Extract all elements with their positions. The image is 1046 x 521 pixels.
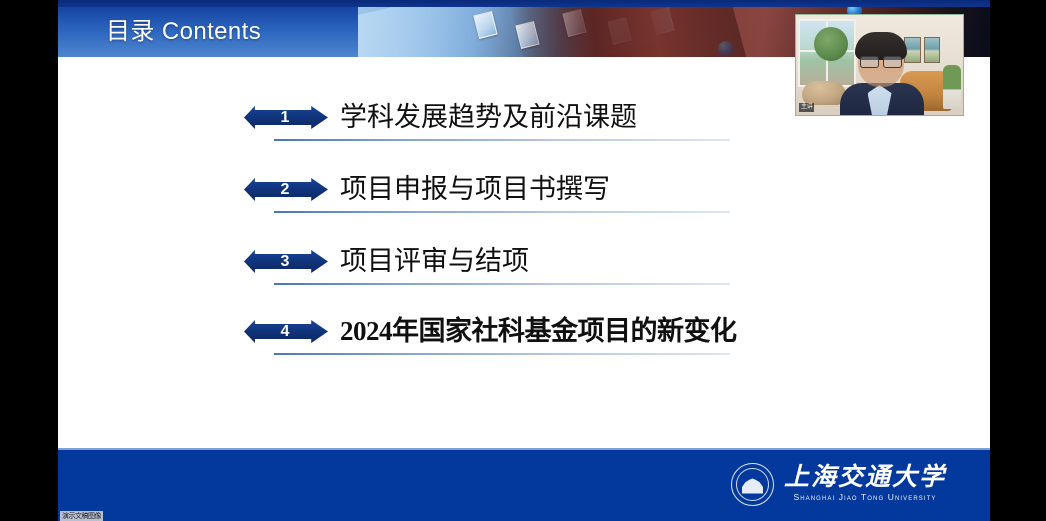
plant-icon (943, 65, 961, 109)
paper-chip-icon (650, 7, 674, 35)
sjtu-seal-icon (731, 463, 774, 506)
list-item[interactable]: 4 2024年国家社科基金项目的新变化 (244, 315, 744, 361)
paper-chip-icon (562, 9, 586, 37)
list-item-number: 4 (244, 319, 328, 344)
list-item[interactable]: 3 项目评审与结项 (244, 245, 744, 291)
list-item-underline (274, 353, 730, 355)
paper-chip-icon (607, 17, 631, 45)
list-item-number: 2 (244, 177, 328, 202)
webcam-overlay[interactable]: 主讲 (795, 14, 964, 116)
sjtu-logo: 上海交通大学 Shanghai Jiao Tong University (731, 462, 946, 506)
sjtu-logo-chinese: 上海交通大学 (784, 465, 946, 491)
slide-footer: 上海交通大学 Shanghai Jiao Tong University 演示文… (58, 448, 990, 521)
footer-watermark-tag: 演示文稿图像 (60, 511, 103, 521)
list-item[interactable]: 2 项目申报与项目书撰写 (244, 173, 744, 219)
list-item-number: 3 (244, 249, 328, 274)
list-item-underline (274, 139, 730, 141)
list-item-label: 项目申报与项目书撰写 (340, 169, 610, 209)
glasses-icon (859, 56, 903, 66)
paper-chip-icon (515, 21, 539, 49)
tree-icon (814, 27, 848, 61)
list-item-label: 项目评审与结项 (340, 241, 529, 281)
wall-art-icon (904, 37, 940, 63)
list-item-label: 2024年国家社科基金项目的新变化 (340, 311, 737, 351)
participant-name-label: 主讲 (799, 103, 814, 112)
page-title: 目录 Contents (106, 11, 261, 46)
sjtu-logo-english: Shanghai Jiao Tong University (784, 491, 946, 503)
sjtu-logo-text: 上海交通大学 Shanghai Jiao Tong University (784, 465, 946, 503)
list-item[interactable]: 1 学科发展趋势及前沿课题 (244, 101, 744, 147)
list-item-number: 1 (244, 105, 328, 130)
paper-chip-icon (473, 11, 497, 39)
screen-root: 目录 Contents 1 学科发展趋势及前沿课题 2 项目申报与项目书撰写 3… (0, 0, 1046, 521)
list-item-label: 学科发展趋势及前沿课题 (340, 97, 637, 137)
list-item-underline (274, 211, 730, 213)
list-item-underline (274, 283, 730, 285)
blue-orb-icon (718, 41, 733, 56)
header-top-stripe (58, 0, 990, 7)
